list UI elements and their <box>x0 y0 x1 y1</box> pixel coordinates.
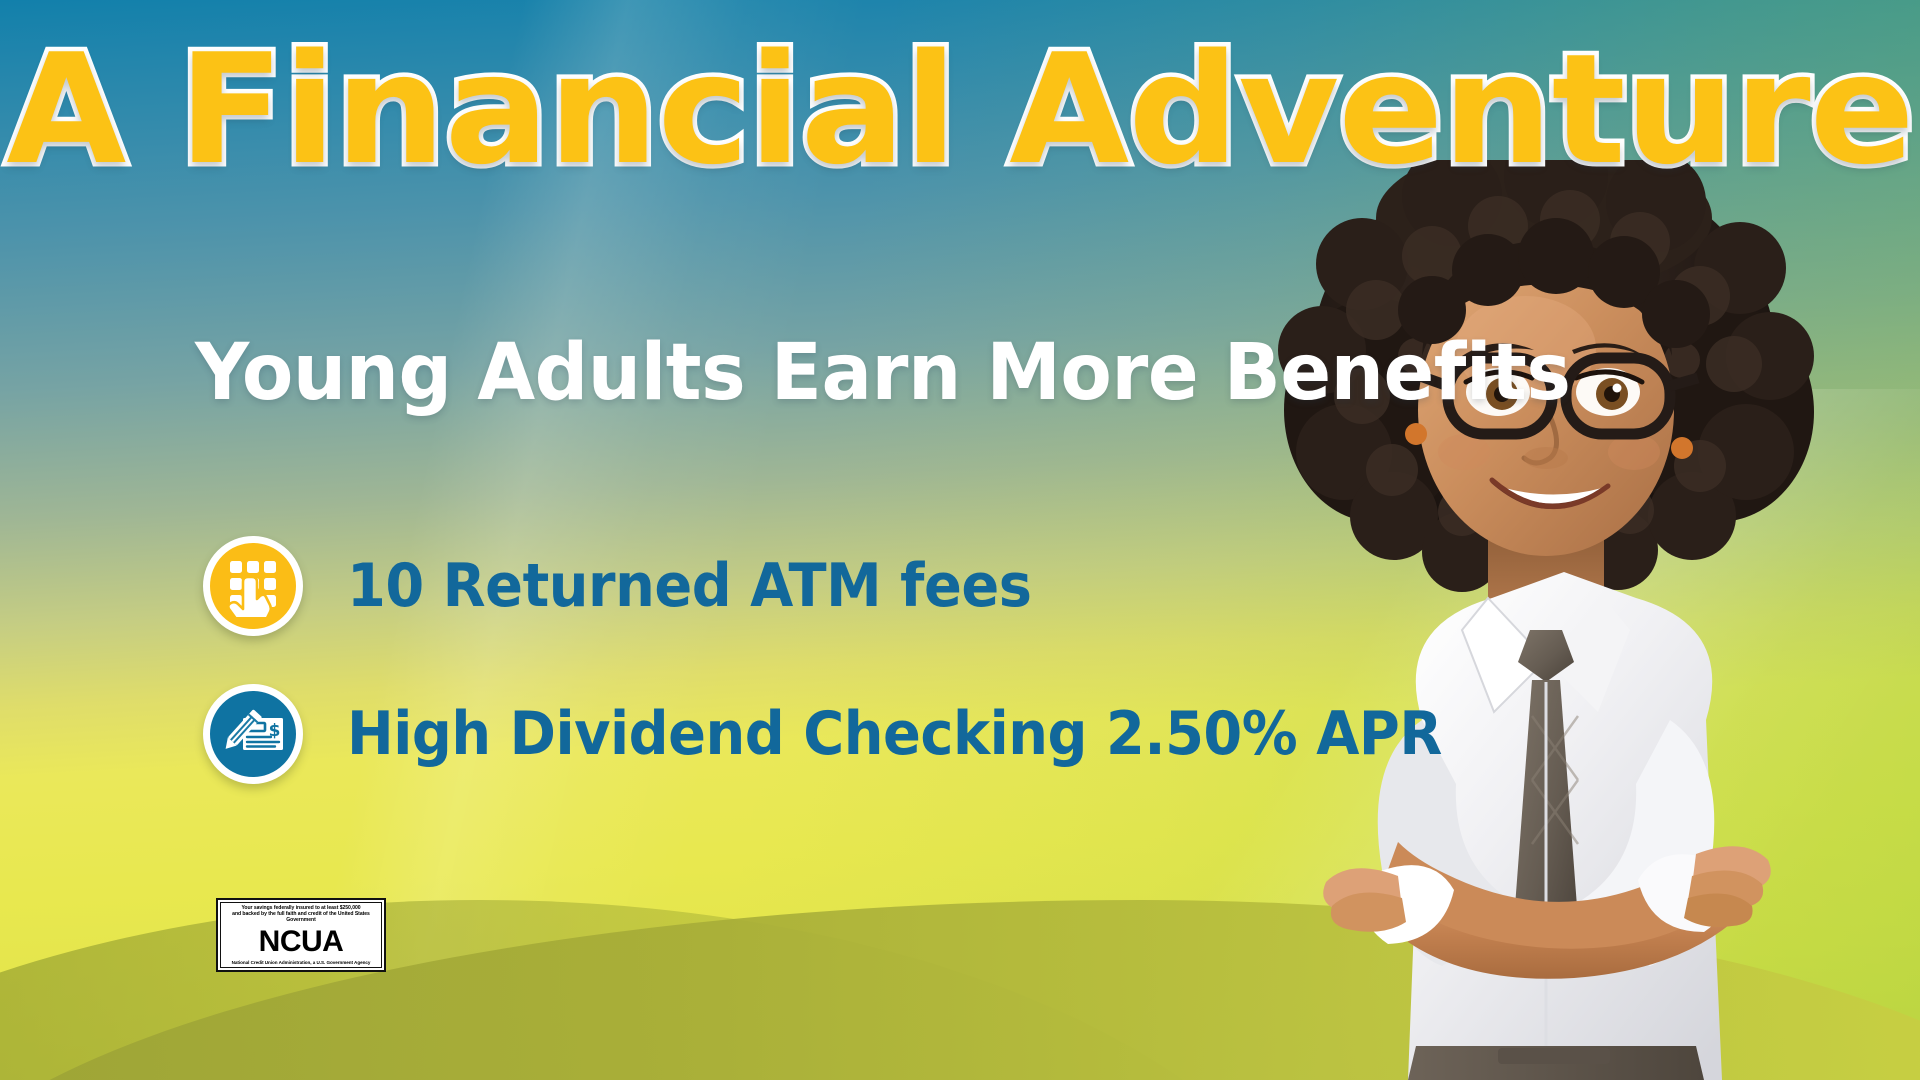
promo-banner: A Financial Adventure Young Adults Earn … <box>0 0 1920 1080</box>
ncua-insurance-text: Your savings federally insured to at lea… <box>225 906 377 924</box>
check-pencil-icon: $ <box>203 684 303 784</box>
ncua-logo: Your savings federally insured to at lea… <box>216 898 386 972</box>
list-item: 10 Returned ATM fees <box>203 524 1524 648</box>
page-subtitle: Young Adults Earn More Benefits <box>195 334 1570 412</box>
list-item-label: 10 Returned ATM fees <box>347 556 1031 616</box>
list-item: $ High Dividend Checking 2.50% APR <box>203 672 1524 796</box>
list-item-label: High Dividend Checking 2.50% APR <box>347 704 1442 764</box>
ncua-agency-text: National Credit Union Administration, a … <box>232 960 371 965</box>
atm-keypad-hand-icon <box>203 536 303 636</box>
ncua-wordmark: NCUA <box>259 927 344 957</box>
svg-text:$: $ <box>269 721 281 741</box>
page-title: A Financial Adventure <box>0 34 1920 186</box>
benefits-list: 10 Returned ATM fees $ <box>203 524 1524 820</box>
